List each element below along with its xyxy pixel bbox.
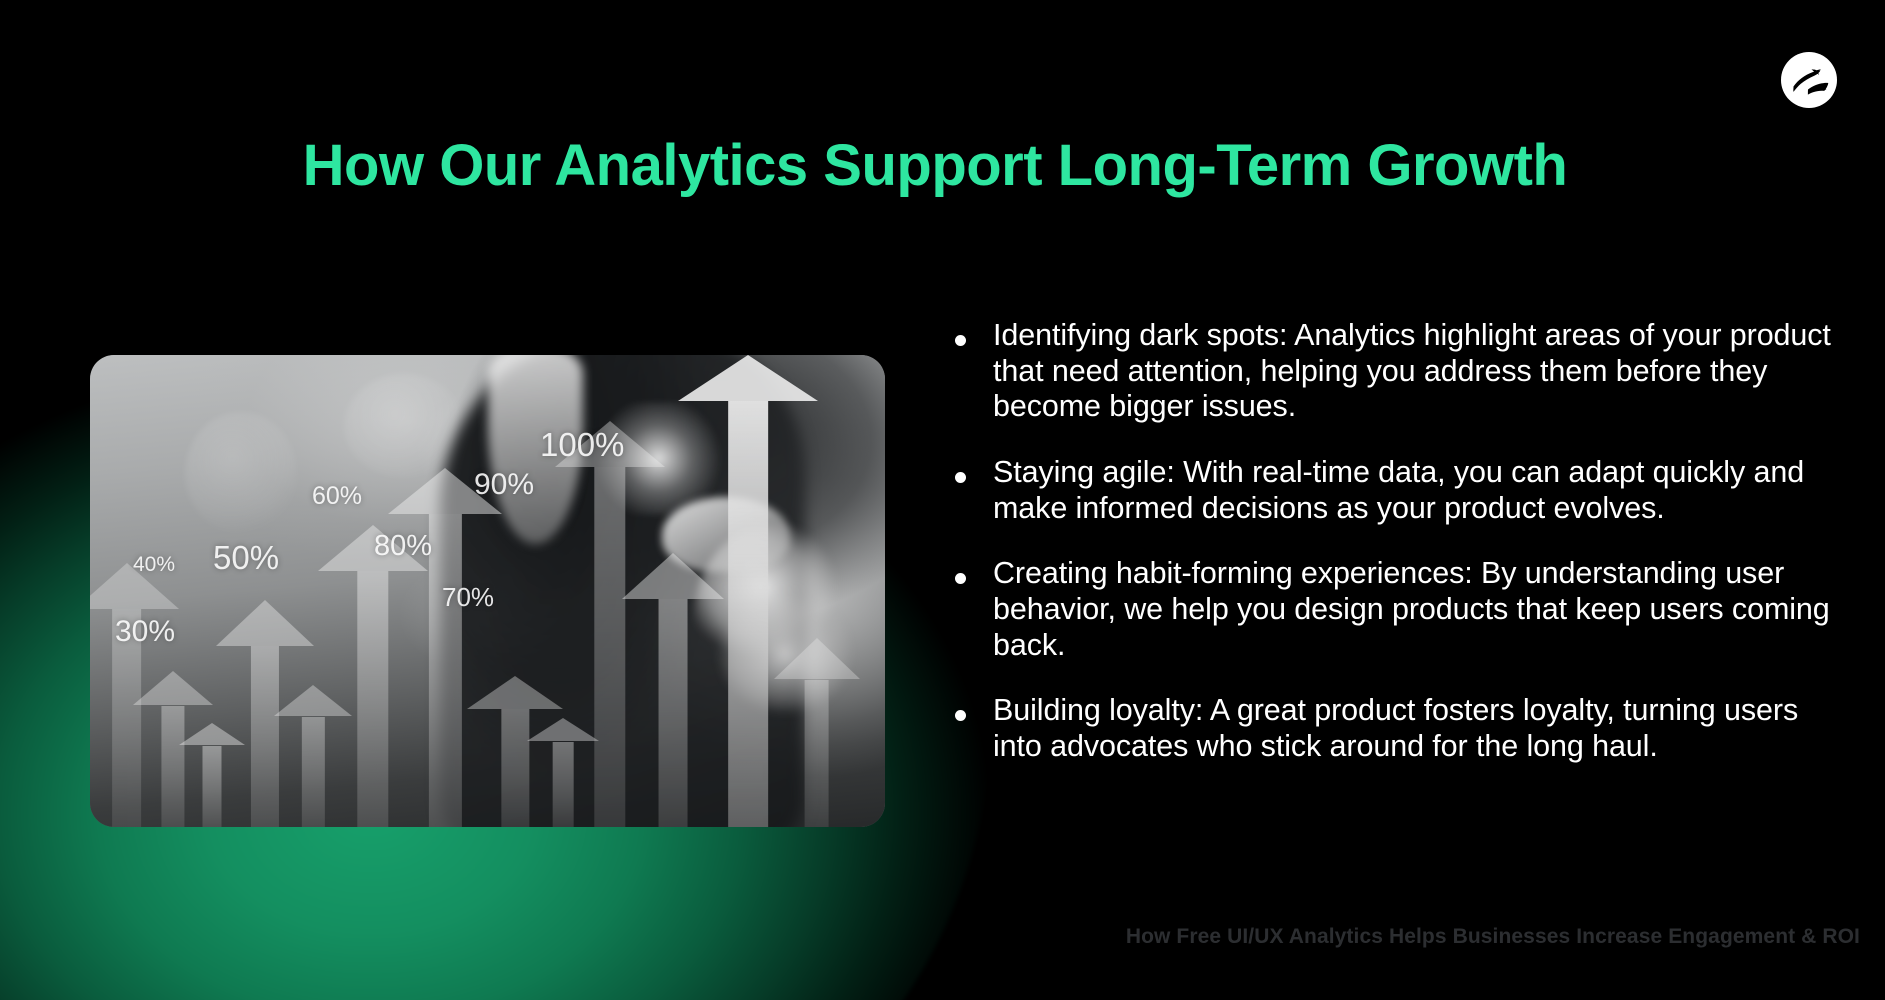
footer-caption: How Free UI/UX Analytics Helps Businesse… [955,925,1860,949]
slide-root: How Our Analytics Support Long-Term Grow… [0,0,1885,1000]
bullet-dot-icon [955,573,966,584]
bullet-text: Creating habit-forming experiences: By u… [993,556,1855,663]
list-item: Creating habit-forming experiences: By u… [955,556,1855,663]
percentage-label: 70% [442,582,494,613]
percentage-label: 50% [213,539,279,577]
list-item: Staying agile: With real-time data, you … [955,455,1855,526]
bullet-text: Staying agile: With real-time data, you … [993,455,1855,526]
bullet-text: Identifying dark spots: Analytics highli… [993,318,1855,425]
percentage-label: 80% [374,530,432,563]
brand-logo[interactable] [1781,52,1837,108]
bullet-list: Identifying dark spots: Analytics highli… [955,318,1855,765]
list-item: Building loyalty: A great product foster… [955,693,1855,764]
growth-photo-panel: 30%40%50%60%70%80%90%100% [90,355,885,827]
bullet-dot-icon [955,335,966,346]
bullet-dot-icon [955,710,966,721]
photo-background: 30%40%50%60%70%80%90%100% [90,355,885,827]
percentage-label: 40% [133,553,175,577]
bullet-text: Building loyalty: A great product foster… [993,693,1855,764]
page-title: How Our Analytics Support Long-Term Grow… [300,130,1570,202]
percentage-labels-layer: 30%40%50%60%70%80%90%100% [90,355,885,827]
percentage-label: 30% [115,615,175,649]
bullet-dot-icon [955,472,966,483]
percentage-label: 60% [312,482,362,511]
percentage-label: 90% [474,468,534,502]
percentage-label: 100% [540,426,624,464]
list-item: Identifying dark spots: Analytics highli… [955,318,1855,425]
